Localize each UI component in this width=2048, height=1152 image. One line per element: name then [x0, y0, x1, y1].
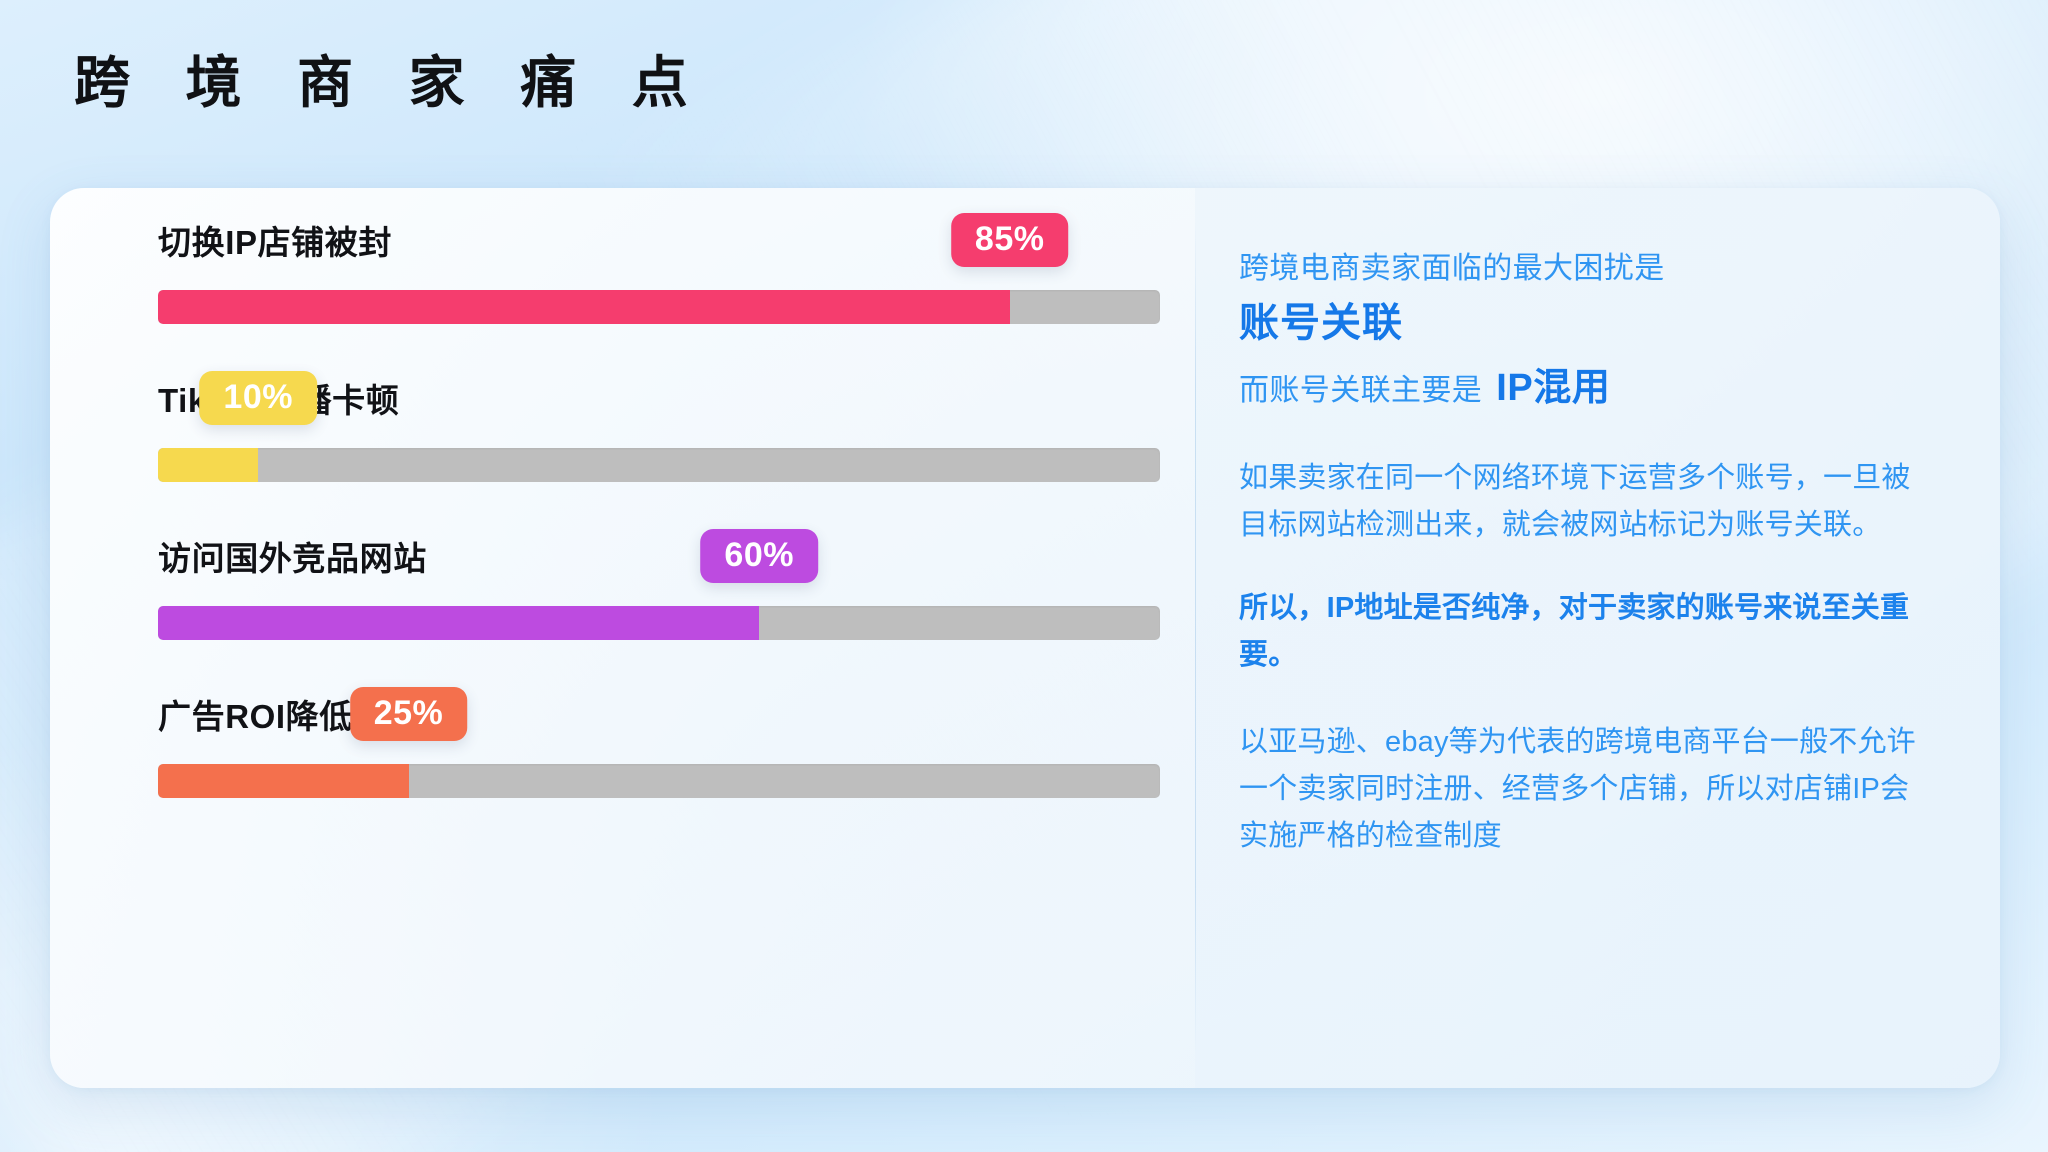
- bar-fill: [158, 606, 759, 640]
- bar-value-badge: 85%: [951, 213, 1069, 267]
- bar-fill: [158, 448, 258, 482]
- info-paragraph-3: 以亚马逊、ebay等为代表的跨境电商平台一般不允许一个卖家同时注册、经营多个店铺…: [1239, 719, 1930, 860]
- bar-label: 切换IP店铺被封: [158, 216, 392, 264]
- bar-fill: [158, 290, 1010, 324]
- bar-track: [158, 448, 1160, 482]
- bar-row-switch-ip: 切换IP店铺被封 85%: [158, 278, 1160, 324]
- bar-row-tiktok-lag: TikTok直播卡顿 10%: [158, 436, 1160, 482]
- bar-label: 广告ROI降低: [158, 690, 353, 738]
- bar-label: 访问国外竞品网站: [158, 532, 427, 580]
- bar-header: 访问国外竞品网站 60%: [158, 524, 1160, 588]
- bar-track: [158, 606, 1160, 640]
- bar-header: 广告ROI降低 25%: [158, 682, 1160, 746]
- bar-value-badge: 60%: [700, 529, 818, 583]
- page-title: 跨 境 商 家 痛 点: [74, 54, 708, 113]
- info-lead-line: 跨境电商卖家面临的最大困扰是: [1239, 246, 1930, 291]
- info-panel: 跨境电商卖家面临的最大困扰是 账号关联 而账号关联主要是IP混用 如果卖家在同一…: [1195, 188, 2000, 1088]
- bar-header: TikTok直播卡顿 10%: [158, 366, 1160, 430]
- bar-track: [158, 764, 1160, 798]
- bar-header: 切换IP店铺被封 85%: [158, 208, 1160, 272]
- pain-point-bar-chart: 切换IP店铺被封 85% TikTok直播卡顿 10% 访问国外竞品网站 60%: [50, 188, 1195, 1088]
- bar-value-badge: 10%: [199, 371, 317, 425]
- info-paragraph-2: 所以，IP地址是否纯净，对于卖家的账号来说至关重要。: [1239, 585, 1930, 679]
- content-card: 切换IP店铺被封 85% TikTok直播卡顿 10% 访问国外竞品网站 60%: [50, 188, 2000, 1088]
- info-lead-secondary: 而账号关联主要是IP混用: [1239, 360, 1930, 417]
- bar-row-ad-roi-drop: 广告ROI降低 25%: [158, 752, 1160, 798]
- bar-fill: [158, 764, 409, 798]
- info-lead-secondary-emphasis: IP混用: [1496, 367, 1610, 409]
- bar-value-badge: 25%: [350, 687, 468, 741]
- info-lead-secondary-prefix: 而账号关联主要是: [1239, 374, 1482, 407]
- info-paragraph-1: 如果卖家在同一个网络环境下运营多个账号，一旦被目标网站检测出来，就会被网站标记为…: [1239, 455, 1930, 549]
- bar-row-visit-competitor: 访问国外竞品网站 60%: [158, 594, 1160, 640]
- info-lead-highlight: 账号关联: [1239, 295, 1930, 352]
- bar-track: [158, 290, 1160, 324]
